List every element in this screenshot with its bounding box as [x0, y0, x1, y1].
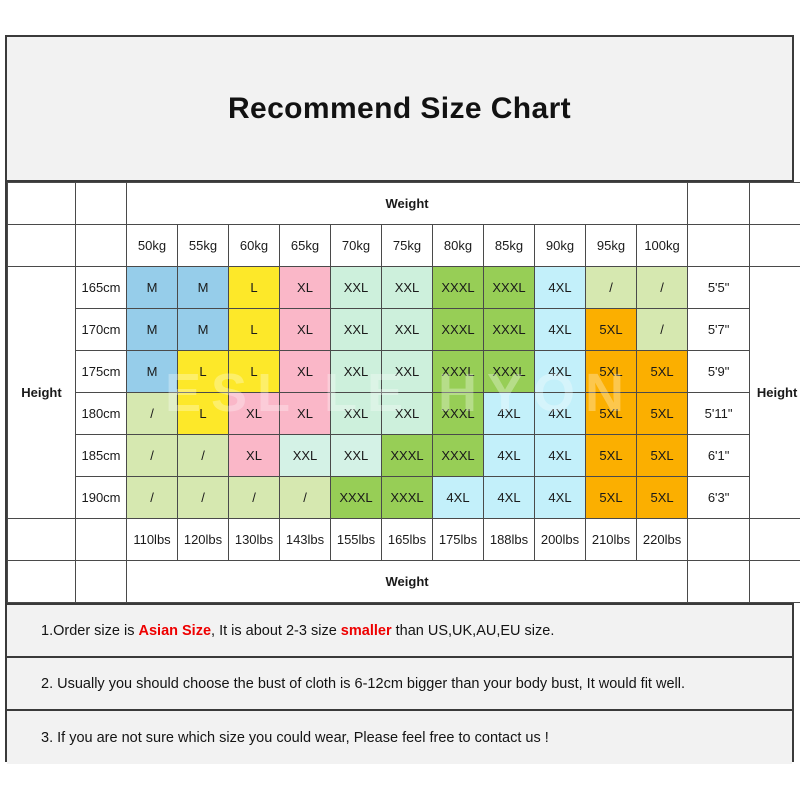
size-cell-180cm-55kg[interactable]: L — [178, 393, 229, 435]
height-ft-2: 5'9" — [688, 351, 750, 393]
size-cell-190cm-80kg[interactable]: 4XL — [433, 477, 484, 519]
spacer-kg-right — [750, 225, 800, 267]
weight-kg-header-0: 50kg — [127, 225, 178, 267]
size-cell-190cm-95kg[interactable]: 5XL — [586, 477, 637, 519]
height-cm-1: 170cm — [76, 309, 127, 351]
note-emphasis: smaller — [341, 623, 392, 639]
size-table-wrapper: ESL LE HYON Weight50kg55kg60kg65kg70kg75… — [7, 182, 792, 605]
size-cell-175cm-90kg[interactable]: 4XL — [535, 351, 586, 393]
spacer-lbs-ft — [688, 519, 750, 561]
height-cm-4: 185cm — [76, 435, 127, 477]
weight-bottom-row: Weight — [8, 561, 800, 603]
note-plain: than US,UK,AU,EU size. — [392, 623, 555, 639]
table-row: 180cm/LXLXLXXLXXLXXXL4XL4XL5XL5XL5'11" — [8, 393, 800, 435]
size-cell-170cm-70kg[interactable]: XXL — [331, 309, 382, 351]
size-cell-175cm-95kg[interactable]: 5XL — [586, 351, 637, 393]
size-cell-170cm-75kg[interactable]: XXL — [382, 309, 433, 351]
lbs-header-row: 110lbs120lbs130lbs143lbs155lbs165lbs175l… — [8, 519, 800, 561]
size-cell-175cm-85kg[interactable]: XXXL — [484, 351, 535, 393]
size-table-body: Weight50kg55kg60kg65kg70kg75kg80kg85kg90… — [8, 183, 800, 603]
note-plain: 2. Usually you should choose the bust of… — [41, 676, 685, 692]
weight-kg-header-1: 55kg — [178, 225, 229, 267]
height-ft-4: 6'1" — [688, 435, 750, 477]
size-cell-165cm-75kg[interactable]: XXL — [382, 267, 433, 309]
size-cell-185cm-85kg[interactable]: 4XL — [484, 435, 535, 477]
weight-lbs-header-5: 165lbs — [382, 519, 433, 561]
note-plain: , It is about 2-3 size — [211, 623, 341, 639]
size-cell-185cm-95kg[interactable]: 5XL — [586, 435, 637, 477]
size-cell-170cm-90kg[interactable]: 4XL — [535, 309, 586, 351]
notes-section: 1.Order size is Asian Size, It is about … — [7, 605, 792, 764]
height-cm-0: 165cm — [76, 267, 127, 309]
size-chart-page: Recommend Size Chart ESL LE HYON Weight5… — [0, 0, 800, 800]
size-cell-175cm-75kg[interactable]: XXL — [382, 351, 433, 393]
weight-lbs-header-9: 210lbs — [586, 519, 637, 561]
size-cell-165cm-85kg[interactable]: XXXL — [484, 267, 535, 309]
weight-kg-header-3: 65kg — [280, 225, 331, 267]
size-cell-170cm-50kg[interactable]: M — [127, 309, 178, 351]
size-cell-170cm-60kg[interactable]: L — [229, 309, 280, 351]
weight-lbs-header-0: 110lbs — [127, 519, 178, 561]
weight-kg-header-5: 75kg — [382, 225, 433, 267]
height-ft-3: 5'11" — [688, 393, 750, 435]
size-cell-165cm-50kg[interactable]: M — [127, 267, 178, 309]
note-plain: 1.Order size is — [41, 623, 139, 639]
note-text-3: 3. If you are not sure which size you co… — [41, 730, 549, 746]
weight-lbs-header-1: 120lbs — [178, 519, 229, 561]
spacer-kg-height — [76, 225, 127, 267]
size-cell-170cm-80kg[interactable]: XXXL — [433, 309, 484, 351]
size-cell-190cm-85kg[interactable]: 4XL — [484, 477, 535, 519]
spacer-wb-left — [8, 561, 76, 603]
kg-header-row: 50kg55kg60kg65kg70kg75kg80kg85kg90kg95kg… — [8, 225, 800, 267]
size-cell-180cm-65kg[interactable]: XL — [280, 393, 331, 435]
note-plain: 3. If you are not sure which size you co… — [41, 730, 549, 746]
height-cm-2: 175cm — [76, 351, 127, 393]
size-cell-180cm-95kg[interactable]: 5XL — [586, 393, 637, 435]
weight-kg-header-9: 95kg — [586, 225, 637, 267]
size-cell-170cm-85kg[interactable]: XXXL — [484, 309, 535, 351]
note-1: 1.Order size is Asian Size, It is about … — [7, 605, 792, 658]
size-cell-180cm-50kg[interactable]: / — [127, 393, 178, 435]
size-cell-165cm-65kg[interactable]: XL — [280, 267, 331, 309]
size-cell-185cm-65kg[interactable]: XXL — [280, 435, 331, 477]
size-cell-165cm-95kg[interactable]: / — [586, 267, 637, 309]
note-2: 2. Usually you should choose the bust of… — [7, 658, 792, 711]
size-cell-180cm-85kg[interactable]: 4XL — [484, 393, 535, 435]
spacer-kg-left — [8, 225, 76, 267]
weight-kg-header-10: 100kg — [637, 225, 688, 267]
weight-top-label: Weight — [127, 183, 688, 225]
size-cell-175cm-80kg[interactable]: XXXL — [433, 351, 484, 393]
size-cell-190cm-65kg[interactable]: / — [280, 477, 331, 519]
size-cell-165cm-90kg[interactable]: 4XL — [535, 267, 586, 309]
weight-kg-header-7: 85kg — [484, 225, 535, 267]
size-cell-190cm-90kg[interactable]: 4XL — [535, 477, 586, 519]
weight-header-row: Weight — [8, 183, 800, 225]
size-cell-190cm-100kg[interactable]: 5XL — [637, 477, 688, 519]
size-cell-165cm-80kg[interactable]: XXXL — [433, 267, 484, 309]
note-text-2: 2. Usually you should choose the bust of… — [41, 676, 685, 692]
size-cell-170cm-100kg[interactable]: / — [637, 309, 688, 351]
chart-frame: Recommend Size Chart ESL LE HYON Weight5… — [5, 35, 794, 762]
size-table: Weight50kg55kg60kg65kg70kg75kg80kg85kg90… — [7, 182, 800, 603]
size-cell-175cm-100kg[interactable]: 5XL — [637, 351, 688, 393]
size-cell-170cm-95kg[interactable]: 5XL — [586, 309, 637, 351]
table-row: 175cmMLLXLXXLXXLXXXLXXXL4XL5XL5XL5'9" — [8, 351, 800, 393]
size-cell-175cm-65kg[interactable]: XL — [280, 351, 331, 393]
size-cell-185cm-50kg[interactable]: / — [127, 435, 178, 477]
size-cell-190cm-55kg[interactable]: / — [178, 477, 229, 519]
spacer-lbs-height — [76, 519, 127, 561]
weight-kg-header-4: 70kg — [331, 225, 382, 267]
spacer-wb-ft — [688, 561, 750, 603]
size-cell-180cm-80kg[interactable]: XXXL — [433, 393, 484, 435]
size-cell-190cm-60kg[interactable]: / — [229, 477, 280, 519]
note-3: 3. If you are not sure which size you co… — [7, 711, 792, 764]
size-cell-175cm-70kg[interactable]: XXL — [331, 351, 382, 393]
size-cell-185cm-80kg[interactable]: XXXL — [433, 435, 484, 477]
size-cell-185cm-55kg[interactable]: / — [178, 435, 229, 477]
table-row: 190cm////XXXLXXXL4XL4XL4XL5XL5XL6'3" — [8, 477, 800, 519]
size-cell-180cm-100kg[interactable]: 5XL — [637, 393, 688, 435]
note-emphasis: Asian Size — [139, 623, 212, 639]
height-cm-3: 180cm — [76, 393, 127, 435]
weight-lbs-header-10: 220lbs — [637, 519, 688, 561]
spacer-wb-right — [750, 561, 800, 603]
weight-kg-header-6: 80kg — [433, 225, 484, 267]
size-cell-180cm-90kg[interactable]: 4XL — [535, 393, 586, 435]
table-row: Height165cmMMLXLXXLXXLXXXLXXXL4XL//5'5"H… — [8, 267, 800, 309]
size-cell-190cm-75kg[interactable]: XXXL — [382, 477, 433, 519]
spacer-kg-ft — [688, 225, 750, 267]
height-left-label: Height — [8, 267, 76, 519]
size-cell-185cm-75kg[interactable]: XXXL — [382, 435, 433, 477]
spacer-top-left — [8, 183, 76, 225]
size-cell-185cm-70kg[interactable]: XXL — [331, 435, 382, 477]
size-cell-165cm-100kg[interactable]: / — [637, 267, 688, 309]
size-cell-180cm-60kg[interactable]: XL — [229, 393, 280, 435]
size-cell-180cm-70kg[interactable]: XXL — [331, 393, 382, 435]
size-cell-185cm-60kg[interactable]: XL — [229, 435, 280, 477]
weight-lbs-header-4: 155lbs — [331, 519, 382, 561]
height-ft-5: 6'3" — [688, 477, 750, 519]
note-text-1: 1.Order size is Asian Size, It is about … — [41, 623, 554, 639]
weight-kg-header-2: 60kg — [229, 225, 280, 267]
title-band: Recommend Size Chart — [7, 37, 792, 182]
spacer-top-height — [76, 183, 127, 225]
size-cell-175cm-60kg[interactable]: L — [229, 351, 280, 393]
weight-lbs-header-2: 130lbs — [229, 519, 280, 561]
size-cell-175cm-55kg[interactable]: L — [178, 351, 229, 393]
size-cell-165cm-55kg[interactable]: M — [178, 267, 229, 309]
table-row: 185cm//XLXXLXXLXXXLXXXL4XL4XL5XL5XL6'1" — [8, 435, 800, 477]
size-cell-170cm-65kg[interactable]: XL — [280, 309, 331, 351]
size-cell-185cm-90kg[interactable]: 4XL — [535, 435, 586, 477]
weight-lbs-header-6: 175lbs — [433, 519, 484, 561]
weight-lbs-header-7: 188lbs — [484, 519, 535, 561]
weight-kg-header-8: 90kg — [535, 225, 586, 267]
spacer-wb-height — [76, 561, 127, 603]
table-row: 170cmMMLXLXXLXXLXXXLXXXL4XL5XL/5'7" — [8, 309, 800, 351]
spacer-lbs-right — [750, 519, 800, 561]
size-cell-180cm-75kg[interactable]: XXL — [382, 393, 433, 435]
size-cell-165cm-60kg[interactable]: L — [229, 267, 280, 309]
height-cm-5: 190cm — [76, 477, 127, 519]
size-cell-190cm-70kg[interactable]: XXXL — [331, 477, 382, 519]
spacer-lbs-left — [8, 519, 76, 561]
weight-lbs-header-8: 200lbs — [535, 519, 586, 561]
size-cell-165cm-70kg[interactable]: XXL — [331, 267, 382, 309]
page-title: Recommend Size Chart — [228, 92, 571, 126]
weight-bottom-label: Weight — [127, 561, 688, 603]
weight-lbs-header-3: 143lbs — [280, 519, 331, 561]
size-cell-170cm-55kg[interactable]: M — [178, 309, 229, 351]
size-cell-185cm-100kg[interactable]: 5XL — [637, 435, 688, 477]
size-cell-175cm-50kg[interactable]: M — [127, 351, 178, 393]
size-cell-190cm-50kg[interactable]: / — [127, 477, 178, 519]
height-ft-1: 5'7" — [688, 309, 750, 351]
spacer-top-ft — [688, 183, 750, 225]
height-right-label: Height — [750, 267, 800, 519]
height-ft-0: 5'5" — [688, 267, 750, 309]
spacer-top-right — [750, 183, 800, 225]
